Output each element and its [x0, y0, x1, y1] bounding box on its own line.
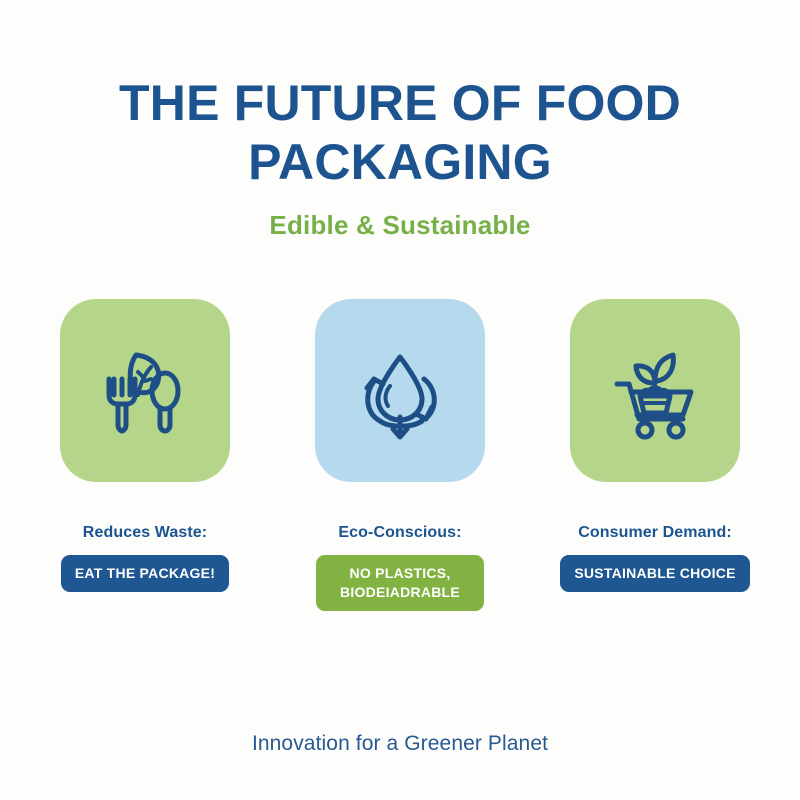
page-title: THE FUTURE OF FOOD PACKAGING — [0, 74, 800, 192]
shopping-cart-sprout-icon — [607, 341, 703, 441]
fork-spoon-leaf-icon — [97, 341, 193, 441]
icon-tile-consumer-demand — [570, 299, 740, 482]
badge-line: BIODEIADRABLE — [330, 583, 470, 602]
badge-line: SUSTAINABLE CHOICE — [574, 564, 735, 583]
badge-no-plastics-biodegradable: NO PLASTICS, BIODEIADRABLE — [316, 555, 484, 611]
feature-card-consumer-demand: Consumer Demand: SUSTAINABLE CHOICE — [560, 299, 750, 592]
feature-card-reduces-waste: Reduces Waste: EAT THE PACKAGE! — [50, 299, 240, 592]
card-label-reduces-waste: Reduces Waste: — [83, 524, 207, 542]
badge-sustainable-choice: SUSTAINABLE CHOICE — [560, 555, 749, 592]
title-line-2: PACKAGING — [60, 133, 740, 192]
feature-card-row: Reduces Waste: EAT THE PACKAGE! — [50, 299, 750, 611]
feature-card-eco-conscious: Eco-Conscious: NO PLASTICS, BIODEIADRABL… — [305, 299, 495, 611]
title-line-1: THE FUTURE OF FOOD — [60, 74, 740, 133]
card-label-consumer-demand: Consumer Demand: — [578, 524, 732, 542]
badge-line: EAT THE PACKAGE! — [75, 564, 215, 583]
badge-eat-the-package: EAT THE PACKAGE! — [61, 555, 229, 592]
page-subtitle: Edible & Sustainable — [0, 210, 800, 241]
badge-line: NO PLASTICS, — [330, 564, 470, 583]
poster-canvas: THE FUTURE OF FOOD PACKAGING Edible & Su… — [0, 0, 800, 800]
icon-tile-reduces-waste — [60, 299, 230, 482]
icon-tile-eco-conscious — [315, 299, 485, 482]
footer-tagline: Innovation for a Greener Planet — [0, 732, 800, 756]
card-label-eco-conscious: Eco-Conscious: — [338, 524, 461, 542]
header: THE FUTURE OF FOOD PACKAGING Edible & Su… — [0, 0, 800, 241]
water-droplet-recycle-icon — [352, 341, 448, 441]
